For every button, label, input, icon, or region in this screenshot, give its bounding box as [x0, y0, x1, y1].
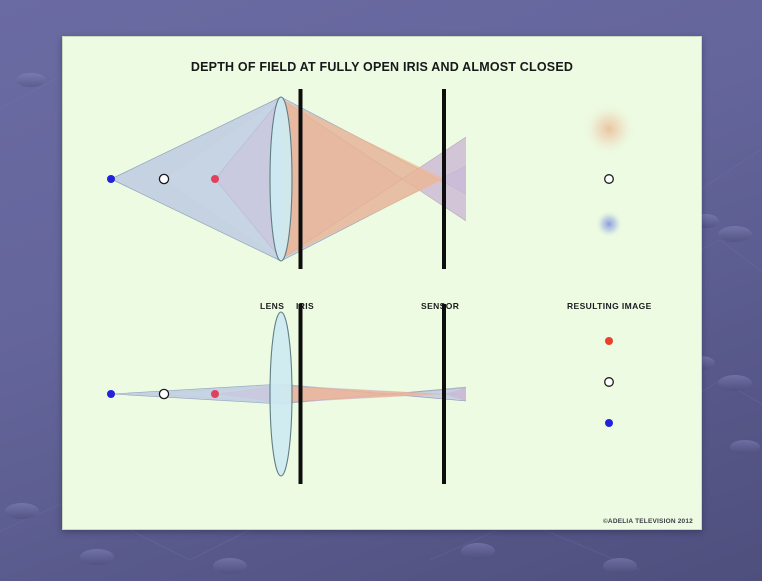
sensor-bar-bottom [442, 304, 446, 484]
point-source-hollow-top [159, 174, 168, 183]
slide-panel: DEPTH OF FIELD AT FULLY OPEN IRIS AND AL… [62, 36, 702, 530]
ray-cone-orange-top [164, 99, 444, 259]
optics-svg-top [63, 69, 701, 289]
point-source-hollow-bottom [159, 389, 168, 398]
optics-svg-bottom [63, 289, 701, 519]
point-source-blue-top [107, 175, 115, 183]
sensor-bar-top [442, 89, 446, 269]
point-source-blue-bottom [107, 390, 115, 398]
iris-bar-top [299, 89, 303, 269]
point-source-red-top [211, 175, 219, 183]
result-spot-red-bottom [605, 337, 613, 345]
result-spot-hollow-bottom [605, 378, 614, 387]
diagram-fully-open-iris: LENS IRIS SENSOR RESULTING IMAGE [63, 69, 701, 289]
result-spot-hollow-top [605, 175, 614, 184]
lens-top [270, 97, 292, 261]
iris-bar-bottom [299, 304, 303, 484]
result-spot-blue-bottom [605, 419, 613, 427]
copyright-notice: ©ADELIA TELEVISION 2012 [603, 518, 693, 525]
resulting-image-bottom [605, 337, 614, 427]
resulting-image-top [582, 102, 636, 238]
lens-bottom [270, 312, 292, 476]
result-spot-blue-blur-top [595, 210, 623, 238]
point-source-red-bottom [211, 390, 219, 398]
diagram-almost-closed-iris: LENS IRIS SENSOR RESULTING IMAGE [63, 289, 701, 519]
result-spot-red-blur-top [582, 102, 636, 156]
